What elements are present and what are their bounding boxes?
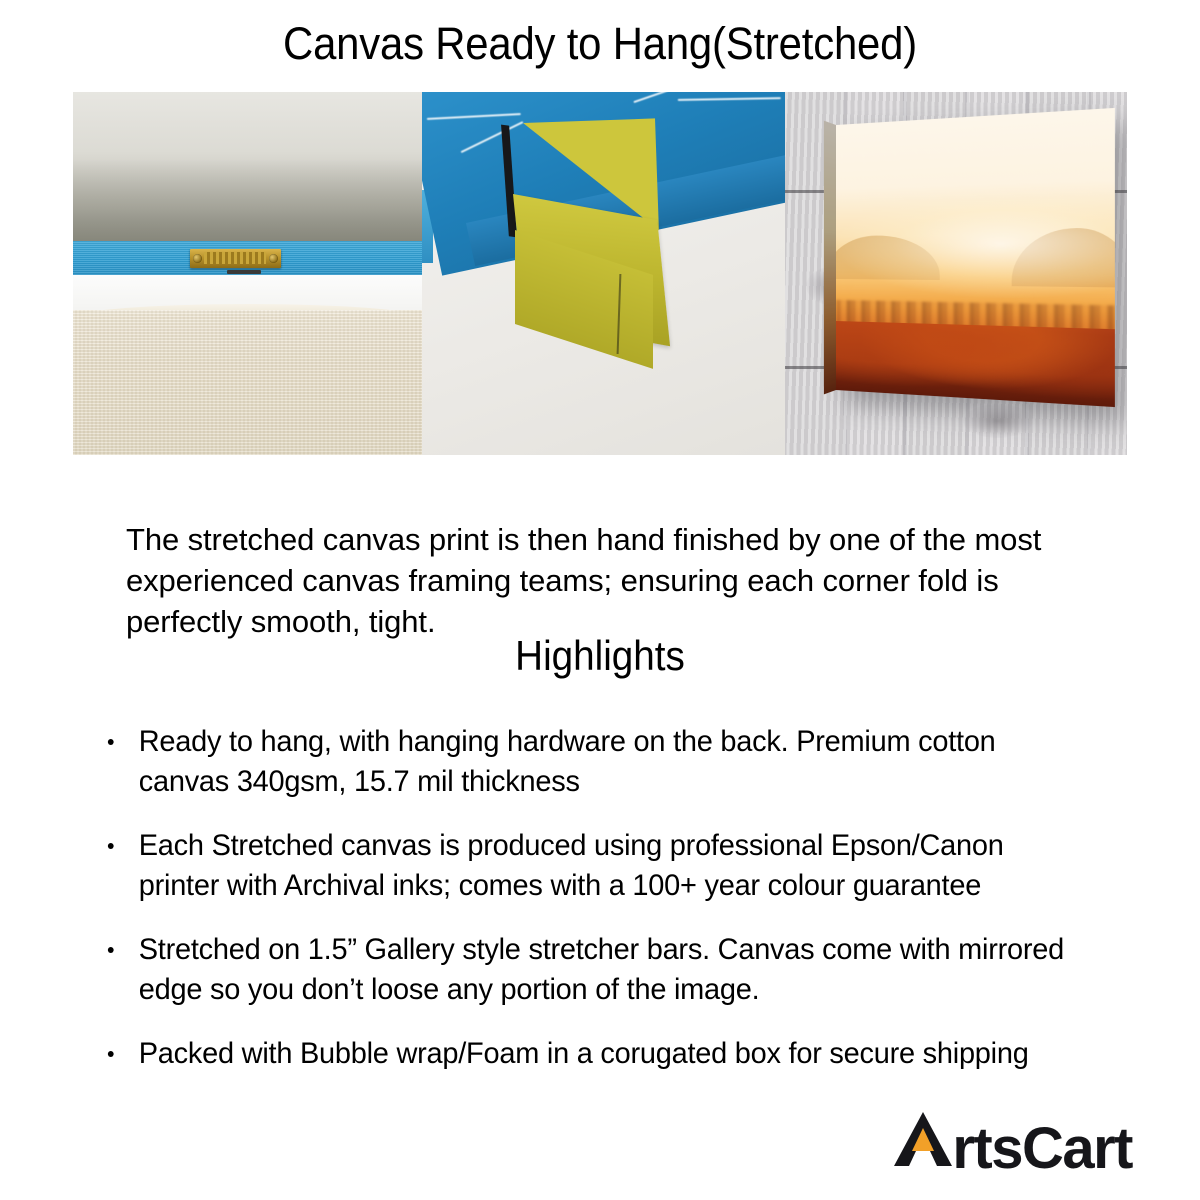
panel1-hanger-shadow xyxy=(227,270,262,274)
panel3-sun-haze xyxy=(836,197,1114,299)
product-photo-strip xyxy=(73,92,1127,455)
list-item-text: Each Stretched canvas is produced using … xyxy=(139,829,1004,902)
list-item: Packed with Bubble wrap/Foam in a coruga… xyxy=(104,1034,1079,1074)
list-item-text: Ready to hang, with hanging hardware on … xyxy=(139,725,996,798)
panel2-wisp-5 xyxy=(678,98,781,102)
highlights-list: Ready to hang, with hanging hardware on … xyxy=(104,722,1114,1098)
list-item-text: Stretched on 1.5” Gallery style stretche… xyxy=(139,933,1064,1006)
panel3-canvas-gallery-wrap-side xyxy=(824,120,836,394)
panel1-wall-background xyxy=(73,92,422,241)
bullet-dot-icon xyxy=(108,739,114,745)
artscart-logo-text: rtsCart xyxy=(952,1120,1132,1178)
sawtooth-hanger-icon xyxy=(190,249,281,268)
bullet-dot-icon xyxy=(108,1051,114,1057)
bullet-dot-icon xyxy=(108,947,114,953)
list-item: Stretched on 1.5” Gallery style stretche… xyxy=(104,930,1079,1010)
panel3-sunset-landscape-print xyxy=(836,108,1114,407)
panel1-raw-cotton-canvas xyxy=(73,310,422,455)
intro-paragraph: The stretched canvas print is then hand … xyxy=(126,519,1076,642)
bullet-dot-icon xyxy=(108,843,114,849)
panel3-stretched-canvas xyxy=(836,108,1114,407)
photo-panel-corner-fold xyxy=(422,92,785,455)
highlights-heading: Highlights xyxy=(48,630,1152,682)
page-title: Canvas Ready to Hang(Stretched) xyxy=(42,16,1158,72)
hanger-screw-right xyxy=(269,254,278,263)
panel2-wisp-1 xyxy=(427,113,521,120)
photo-panel-hung-canvas xyxy=(785,92,1127,455)
artscart-logo: rtsCart xyxy=(892,1110,1132,1172)
list-item-text: Packed with Bubble wrap/Foam in a coruga… xyxy=(139,1037,1029,1070)
photo-panel-hanging-hardware xyxy=(73,92,422,455)
triangle-in-letter-a-icon xyxy=(892,1110,954,1168)
list-item: Each Stretched canvas is produced using … xyxy=(104,826,1079,906)
list-item: Ready to hang, with hanging hardware on … xyxy=(104,722,1079,802)
panel3-wood-knot-2 xyxy=(963,404,1033,438)
hanger-screw-left xyxy=(193,254,202,263)
